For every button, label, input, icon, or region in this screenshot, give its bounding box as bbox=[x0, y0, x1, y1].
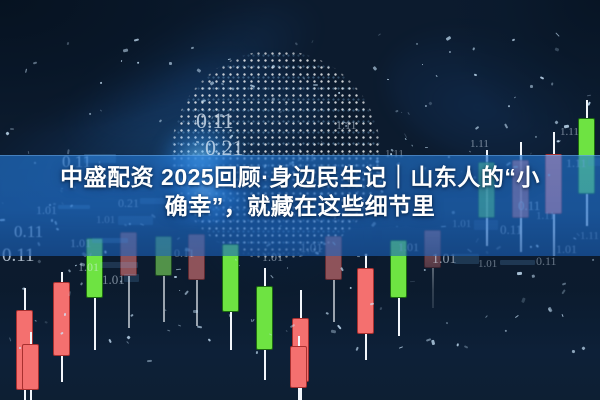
candlestick bbox=[22, 332, 39, 400]
candlestick-body bbox=[53, 282, 70, 356]
candlestick bbox=[222, 244, 239, 350]
cover-banner: 0.111.010.110.111.011.010.211.011.010.11… bbox=[0, 0, 600, 400]
candlestick bbox=[357, 254, 374, 360]
candlestick bbox=[256, 268, 273, 380]
vignette-top-left bbox=[0, 0, 348, 176]
headline-line-1: 中盛配资 2025回顾·身边民生记｜山东人的“小 bbox=[0, 163, 600, 192]
candlestick bbox=[53, 272, 70, 382]
candlestick-body bbox=[256, 286, 273, 350]
page-title: 中盛配资 2025回顾·身边民生记｜山东人的“小 确幸”，就藏在这些细节里 bbox=[0, 163, 600, 222]
candlestick bbox=[290, 336, 307, 400]
candlestick-body bbox=[357, 268, 374, 334]
headline-band-edge bbox=[0, 155, 600, 156]
headline-line-2: 确幸”，就藏在这些细节里 bbox=[0, 192, 600, 221]
candlestick-body bbox=[22, 344, 39, 390]
candlestick-body bbox=[290, 346, 307, 388]
